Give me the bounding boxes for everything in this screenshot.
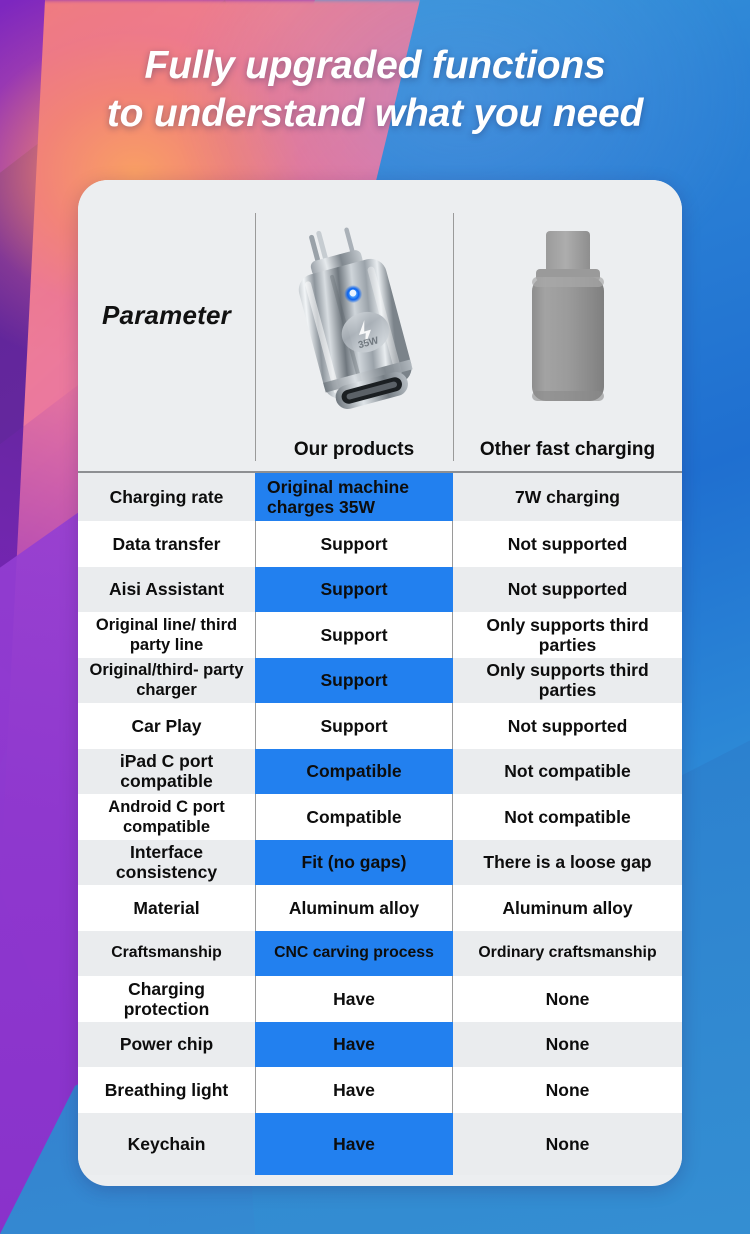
row-our-product-value: Have (255, 976, 453, 1022)
header-bottom-rule (78, 471, 682, 473)
table-row: Breathing lightHaveNone (78, 1067, 682, 1113)
row-our-product-value: Original machine charges 35W (255, 473, 453, 521)
other-product-image (488, 223, 648, 433)
page-title-line-2: to understand what you need (0, 90, 750, 138)
table-row: iPad C port compatibleCompatibleNot comp… (78, 749, 682, 795)
row-other-product-value: There is a loose gap (453, 840, 682, 886)
row-our-product-value: Aluminum alloy (255, 885, 453, 931)
header-divider-2 (453, 213, 454, 461)
table-row: Data transferSupportNot supported (78, 521, 682, 567)
page-title-line-1: Fully upgraded functions (0, 42, 750, 90)
table-row: Original/third- party chargerSupportOnly… (78, 658, 682, 704)
page-title: Fully upgraded functions to understand w… (0, 42, 750, 138)
other-product-caption: Other fast charging (480, 439, 655, 461)
row-parameter-label: Keychain (78, 1113, 255, 1175)
row-other-product-value: Ordinary craftsmanship (453, 931, 682, 977)
table-row: MaterialAluminum alloyAluminum alloy (78, 885, 682, 931)
row-our-product-value: Fit (no gaps) (255, 840, 453, 886)
row-other-product-value: 7W charging (453, 473, 682, 521)
row-our-product-value: Support (255, 521, 453, 567)
comparison-table-header: Parameter (78, 180, 682, 473)
our-product-image: 35W (274, 223, 434, 433)
row-parameter-label: Charging protection (78, 976, 255, 1022)
row-parameter-label: Craftsmanship (78, 931, 255, 977)
row-our-product-value: Have (255, 1113, 453, 1175)
table-row: Charging rateOriginal machine charges 35… (78, 473, 682, 521)
row-parameter-label: Interface consistency (78, 840, 255, 886)
our-product-caption: Our products (294, 439, 414, 461)
table-row: CraftsmanshipCNC carving processOrdinary… (78, 931, 682, 977)
row-other-product-value: Not compatible (453, 749, 682, 795)
parameter-heading: Parameter (102, 300, 231, 331)
header-our-product-cell: 35W Our products (255, 180, 453, 473)
row-our-product-value: Have (255, 1067, 453, 1113)
row-other-product-value: Not compatible (453, 794, 682, 840)
row-parameter-label: Android C port compatible (78, 794, 255, 840)
table-row: Charging protectionHaveNone (78, 976, 682, 1022)
row-other-product-value: Aluminum alloy (453, 885, 682, 931)
row-parameter-label: iPad C port compatible (78, 749, 255, 795)
row-parameter-label: Car Play (78, 703, 255, 749)
row-other-product-value: None (453, 1022, 682, 1068)
row-other-product-value: None (453, 976, 682, 1022)
row-our-product-value: Support (255, 703, 453, 749)
row-parameter-label: Material (78, 885, 255, 931)
table-row: Power chipHaveNone (78, 1022, 682, 1068)
row-parameter-label: Data transfer (78, 521, 255, 567)
row-other-product-value: Only supports third parties (453, 658, 682, 704)
row-our-product-value: Support (255, 567, 453, 613)
header-parameter-cell: Parameter (78, 180, 255, 473)
row-our-product-value: Compatible (255, 794, 453, 840)
row-other-product-value: Not supported (453, 521, 682, 567)
row-parameter-label: Original line/ third party line (78, 612, 255, 658)
header-divider-1 (255, 213, 256, 461)
row-parameter-label: Aisi Assistant (78, 567, 255, 613)
row-our-product-value: Compatible (255, 749, 453, 795)
row-other-product-value: None (453, 1067, 682, 1113)
table-row: Aisi AssistantSupportNot supported (78, 567, 682, 613)
row-other-product-value: None (453, 1113, 682, 1175)
row-our-product-value: Support (255, 658, 453, 704)
table-row: KeychainHaveNone (78, 1113, 682, 1175)
row-our-product-value: Support (255, 612, 453, 658)
row-our-product-value: CNC carving process (255, 931, 453, 977)
row-other-product-value: Not supported (453, 567, 682, 613)
infographic-page: Fully upgraded functions to understand w… (0, 0, 750, 1234)
other-product-illustration (488, 223, 648, 433)
table-row: Original line/ third party lineSupportOn… (78, 612, 682, 658)
table-row: Interface consistencyFit (no gaps)There … (78, 840, 682, 886)
header-other-product-cell: Other fast charging (453, 180, 682, 473)
row-other-product-value: Not supported (453, 703, 682, 749)
our-product-illustration: 35W (274, 223, 434, 433)
row-parameter-label: Original/third- party charger (78, 658, 255, 704)
row-our-product-value: Have (255, 1022, 453, 1068)
comparison-table-body: Charging rateOriginal machine charges 35… (78, 473, 682, 1175)
row-parameter-label: Breathing light (78, 1067, 255, 1113)
row-other-product-value: Only supports third parties (453, 612, 682, 658)
table-row: Car PlaySupportNot supported (78, 703, 682, 749)
comparison-card: Parameter (78, 180, 682, 1186)
row-parameter-label: Charging rate (78, 473, 255, 521)
row-parameter-label: Power chip (78, 1022, 255, 1068)
table-row: Android C port compatibleCompatibleNot c… (78, 794, 682, 840)
